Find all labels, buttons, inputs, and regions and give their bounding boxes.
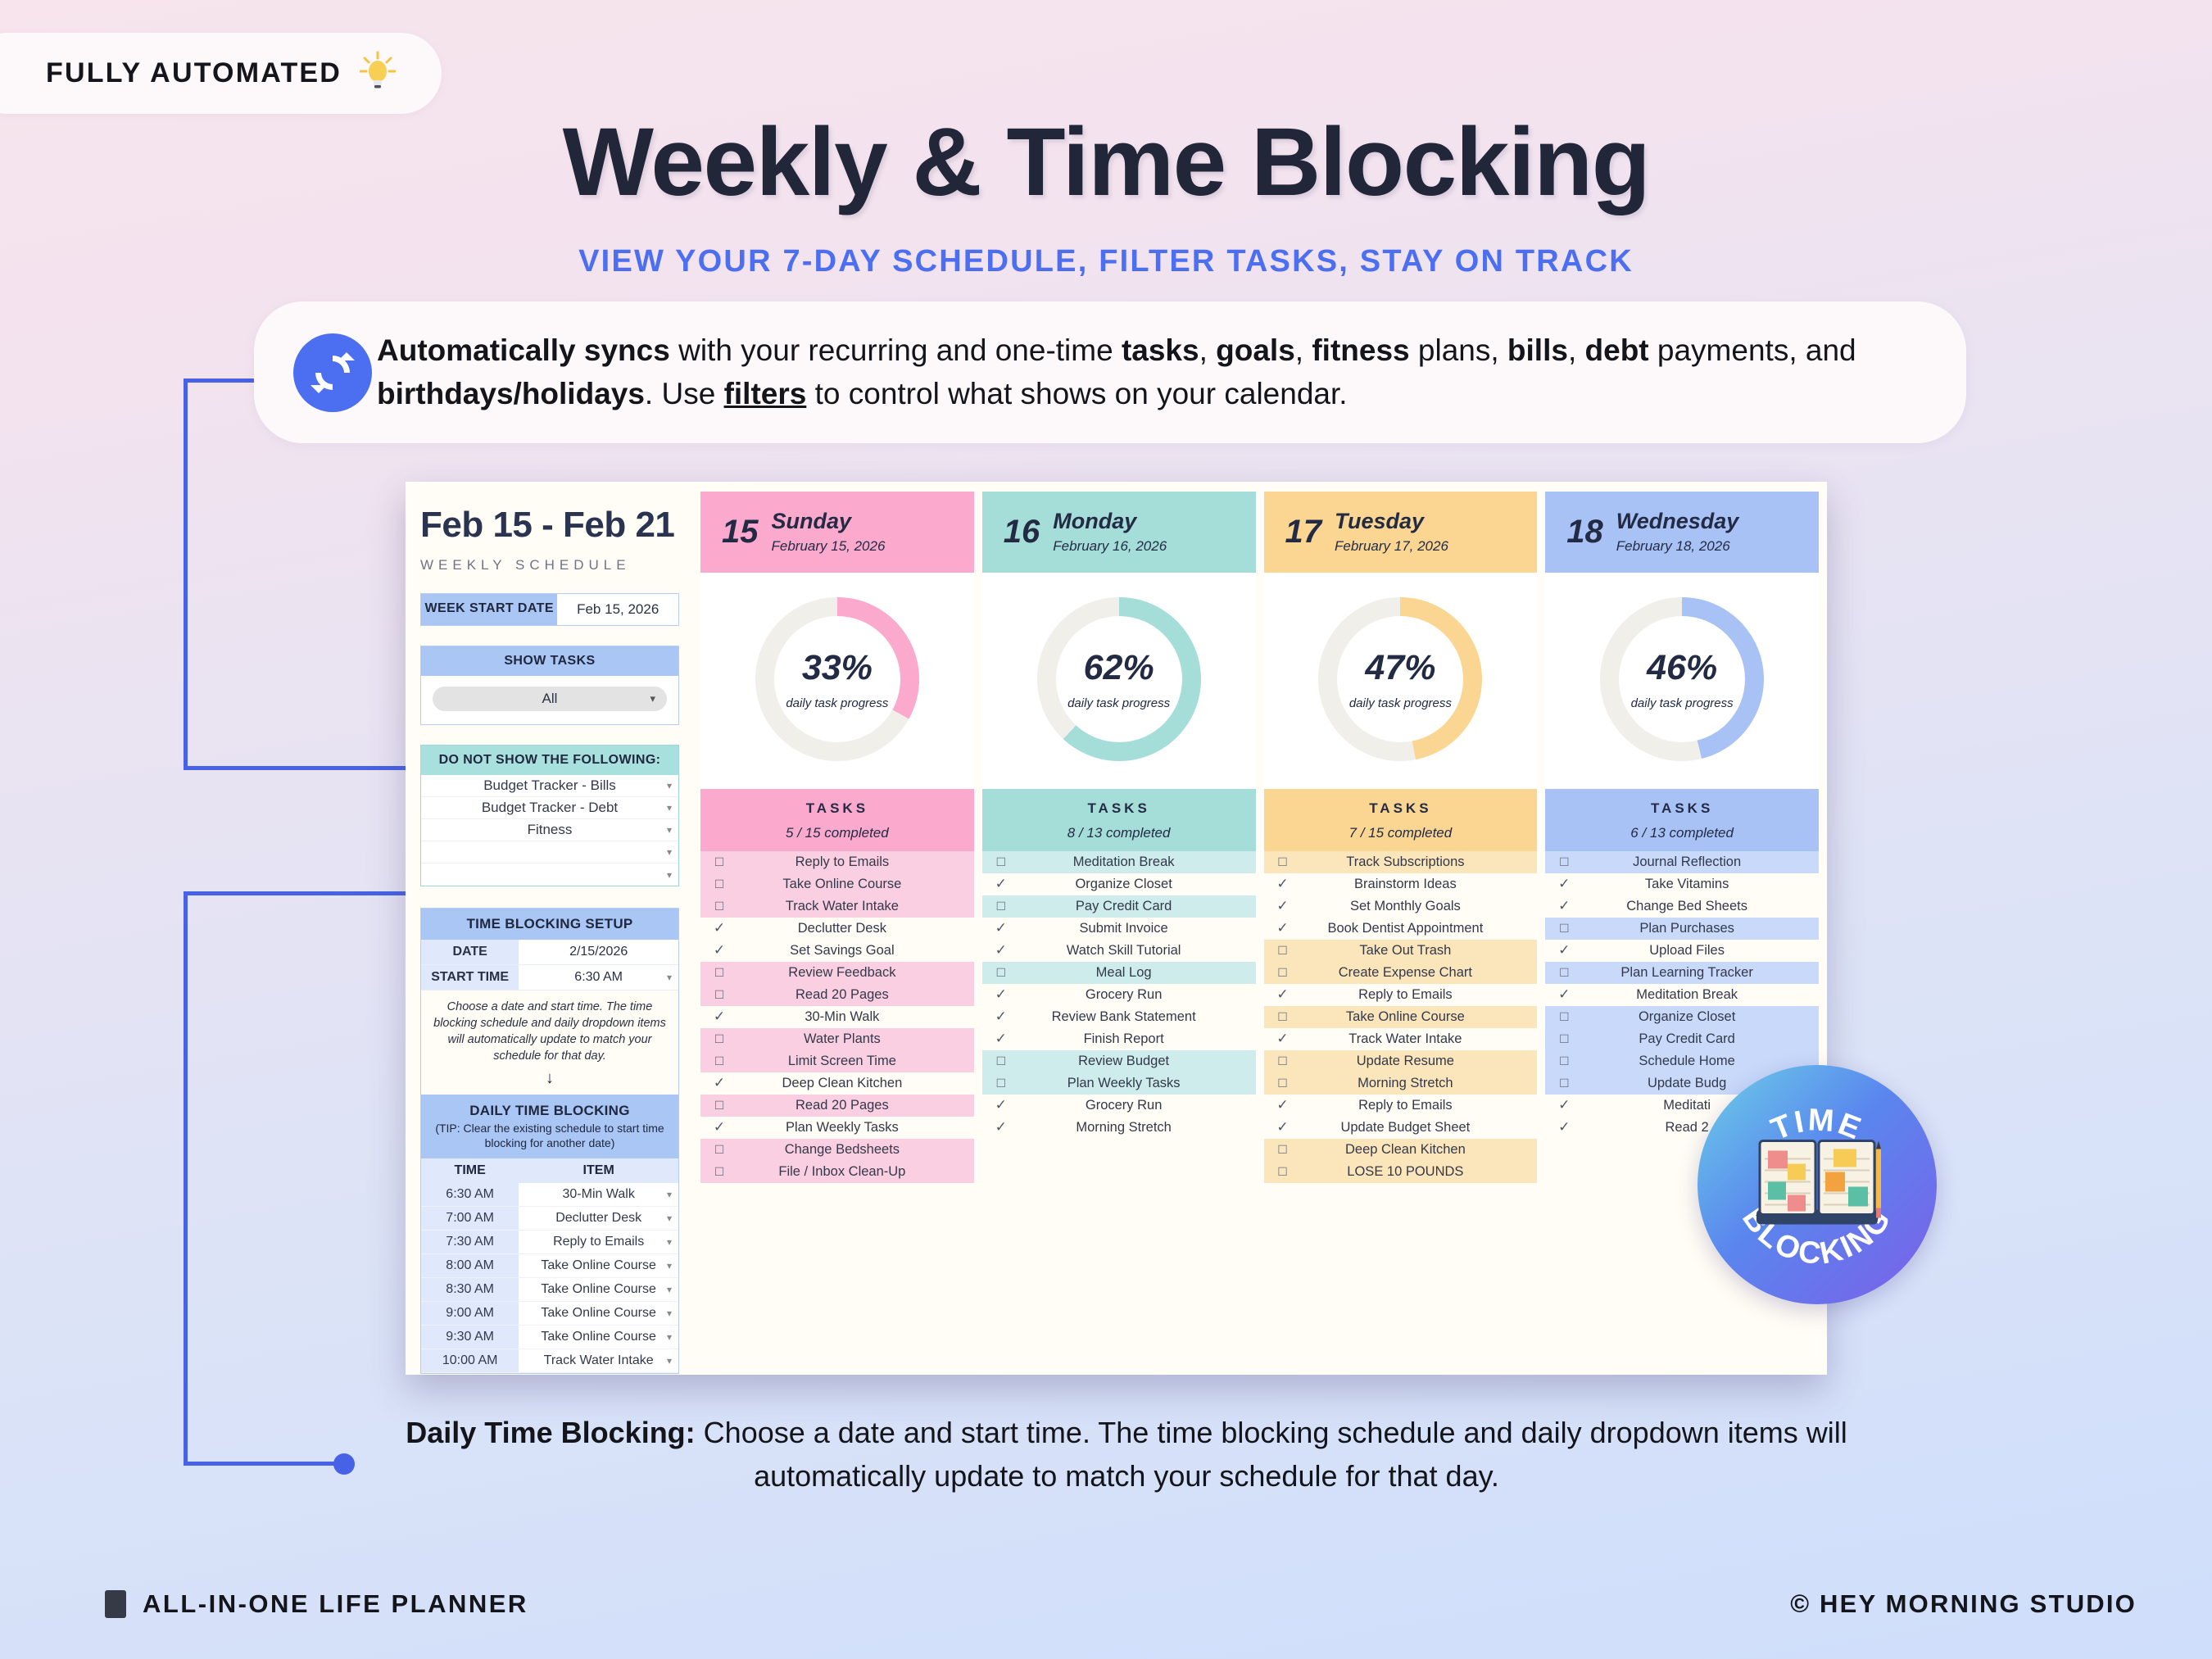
tasks-label: TASKS bbox=[982, 800, 1256, 817]
do-not-show-row[interactable]: Budget Tracker - Debt▾ bbox=[421, 797, 678, 819]
sync-icon bbox=[293, 333, 372, 412]
task-row[interactable]: ✓Update Budget Sheet bbox=[1264, 1117, 1538, 1139]
check-icon[interactable]: ✓ bbox=[1545, 1097, 1583, 1113]
task-row[interactable]: ✓Reply to Emails bbox=[1264, 984, 1538, 1006]
checkbox-icon[interactable]: ☐ bbox=[1264, 855, 1302, 869]
tb-start-time-text: 6:30 AM bbox=[574, 970, 623, 984]
tasks-header: TASKS6 / 13 completed bbox=[1545, 789, 1819, 851]
tb-setup-note: Choose a date and start time. The time b… bbox=[421, 990, 678, 1069]
checkbox-icon[interactable]: ☐ bbox=[1264, 944, 1302, 958]
task-name: Organize Closet bbox=[1020, 877, 1256, 892]
task-row[interactable]: ✓Deep Clean Kitchen bbox=[700, 1072, 974, 1095]
day-date: February 18, 2026 bbox=[1616, 538, 1739, 555]
day-number: 18 bbox=[1566, 514, 1603, 551]
task-name: Watch Skill Tutorial bbox=[1020, 943, 1256, 959]
checkbox-icon[interactable]: ☐ bbox=[1545, 1032, 1583, 1046]
check-icon[interactable]: ✓ bbox=[1545, 986, 1583, 1003]
check-icon[interactable]: ✓ bbox=[1264, 1097, 1302, 1113]
check-icon[interactable]: ✓ bbox=[1264, 1119, 1302, 1135]
checkbox-icon[interactable]: ☐ bbox=[982, 1077, 1020, 1090]
task-row[interactable]: ✓Change Bed Sheets bbox=[1545, 895, 1819, 918]
week-start-date-value[interactable]: Feb 15, 2026 bbox=[557, 594, 678, 625]
day-name: Tuesday bbox=[1335, 509, 1424, 533]
progress-ring: 47%daily task progress bbox=[1318, 597, 1482, 761]
day-date: February 15, 2026 bbox=[772, 538, 886, 555]
checkbox-icon[interactable]: ☐ bbox=[1545, 855, 1583, 869]
check-icon[interactable]: ✓ bbox=[700, 1119, 738, 1135]
progress-caption: daily task progress bbox=[786, 696, 888, 710]
progress-ring: 46%daily task progress bbox=[1600, 597, 1764, 761]
task-row[interactable]: ☐Limit Screen Time bbox=[700, 1050, 974, 1072]
task-name: LOSE 10 POUNDS bbox=[1302, 1164, 1538, 1180]
time-blocking-time: 8:00 AM bbox=[421, 1254, 519, 1278]
task-name: Reply to Emails bbox=[738, 854, 974, 870]
task-name: Take Online Course bbox=[738, 877, 974, 892]
day-date: February 17, 2026 bbox=[1335, 538, 1448, 555]
sidebar-panel: Feb 15 - Feb 21 WEEKLY SCHEDULE WEEK STA… bbox=[406, 482, 694, 1375]
progress-ring-wrap: 62%daily task progress bbox=[982, 573, 1256, 789]
task-name: Update Budget Sheet bbox=[1302, 1120, 1538, 1135]
time-blocking-item-text: Take Online Course bbox=[541, 1258, 656, 1272]
check-icon[interactable]: ✓ bbox=[982, 1119, 1020, 1135]
task-name: Track Subscriptions bbox=[1302, 854, 1538, 870]
time-blocking-row: 8:00 AMTake Online Course▾ bbox=[421, 1254, 678, 1278]
task-list: ☐Meditation Break✓Organize Closet☐Pay Cr… bbox=[982, 851, 1256, 1375]
checkbox-icon[interactable]: ☐ bbox=[700, 1165, 738, 1179]
chevron-down-icon: ▾ bbox=[650, 692, 655, 705]
progress-ring: 33%daily task progress bbox=[755, 597, 919, 761]
tasks-completed-count: 5 / 15 completed bbox=[700, 825, 974, 841]
check-icon[interactable]: ✓ bbox=[1264, 920, 1302, 936]
check-icon[interactable]: ✓ bbox=[1264, 1031, 1302, 1047]
time-blocking-time: 7:00 AM bbox=[421, 1207, 519, 1231]
task-name: Plan Weekly Tasks bbox=[1020, 1076, 1256, 1091]
tasks-completed-count: 6 / 13 completed bbox=[1545, 825, 1819, 841]
checkbox-icon[interactable]: ☐ bbox=[1264, 1165, 1302, 1179]
show-tasks-header: SHOW TASKS bbox=[421, 646, 678, 676]
week-start-date-row: WEEK START DATE Feb 15, 2026 bbox=[420, 593, 679, 626]
task-row[interactable]: ☐Reply to Emails bbox=[700, 851, 974, 873]
checkbox-icon[interactable]: ☐ bbox=[1264, 1077, 1302, 1090]
callout-bold-7: birthdays/holidays bbox=[377, 377, 645, 410]
task-row[interactable]: ☐Track Subscriptions bbox=[1264, 851, 1538, 873]
task-row[interactable]: ✓Book Dentist Appointment bbox=[1264, 918, 1538, 940]
task-name: Book Dentist Appointment bbox=[1302, 921, 1538, 936]
check-icon[interactable]: ✓ bbox=[1545, 876, 1583, 892]
task-row[interactable]: ☐Take Online Course bbox=[700, 873, 974, 895]
task-name: Track Water Intake bbox=[1302, 1031, 1538, 1047]
checkbox-icon[interactable]: ☐ bbox=[982, 966, 1020, 980]
checkbox-icon[interactable]: ☐ bbox=[700, 855, 738, 869]
check-icon[interactable]: ✓ bbox=[982, 1097, 1020, 1113]
check-icon[interactable]: ✓ bbox=[1545, 942, 1583, 959]
task-row[interactable]: ✓Declutter Desk bbox=[700, 918, 974, 940]
check-icon[interactable]: ✓ bbox=[982, 876, 1020, 892]
chevron-down-icon: ▾ bbox=[667, 1189, 672, 1200]
callout-text-6: payments, and bbox=[1649, 333, 1856, 367]
task-row[interactable]: ✓Grocery Run bbox=[982, 1095, 1256, 1117]
progress-ring: 62%daily task progress bbox=[1037, 597, 1201, 761]
task-row[interactable]: ✓Meditation Break bbox=[1545, 984, 1819, 1006]
do-not-show-header: DO NOT SHOW THE FOLLOWING: bbox=[421, 746, 678, 775]
task-name: Deep Clean Kitchen bbox=[1302, 1142, 1538, 1158]
task-name: Deep Clean Kitchen bbox=[738, 1076, 974, 1091]
week-start-date-label: WEEK START DATE bbox=[421, 594, 557, 625]
progress-ring-wrap: 46%daily task progress bbox=[1545, 573, 1819, 789]
time-blocking-time: 8:30 AM bbox=[421, 1278, 519, 1302]
tb-date-row: DATE 2/15/2026 bbox=[421, 940, 678, 965]
task-name: Change Bedsheets bbox=[738, 1142, 974, 1158]
do-not-show-value: Fitness bbox=[528, 822, 573, 838]
progress-percent: 47% bbox=[1365, 648, 1435, 688]
checkbox-icon[interactable]: ☐ bbox=[700, 877, 738, 891]
callout-bold-1: Automatically syncs bbox=[377, 333, 670, 367]
time-blocking-item[interactable]: Track Water Intake▾ bbox=[519, 1349, 678, 1373]
task-row[interactable]: ☐Change Bedsheets bbox=[700, 1139, 974, 1161]
task-name: Change Bed Sheets bbox=[1583, 899, 1819, 914]
task-name: Plan Purchases bbox=[1583, 921, 1819, 936]
task-row[interactable]: ✓Watch Skill Tutorial bbox=[982, 940, 1256, 962]
task-list: ☐Track Subscriptions✓Brainstorm Ideas✓Se… bbox=[1264, 851, 1538, 1375]
page-subtitle: VIEW YOUR 7-DAY SCHEDULE, FILTER TASKS, … bbox=[0, 244, 2212, 279]
time-blocking-item-text: 30-Min Walk bbox=[563, 1187, 635, 1201]
time-blocking-row: 10:00 AMTrack Water Intake▾ bbox=[421, 1349, 678, 1373]
task-list: ☐Reply to Emails☐Take Online Course☐Trac… bbox=[700, 851, 974, 1375]
task-name: Meditation Break bbox=[1583, 987, 1819, 1003]
do-not-show-block: DO NOT SHOW THE FOLLOWING: Budget Tracke… bbox=[420, 745, 679, 886]
task-name: Pay Credit Card bbox=[1020, 899, 1256, 914]
task-row[interactable]: ✓30-Min Walk bbox=[700, 1006, 974, 1028]
checkbox-icon[interactable]: ☐ bbox=[700, 900, 738, 913]
caption-bold: Daily Time Blocking: bbox=[406, 1416, 695, 1449]
callout-text-7: . Use bbox=[645, 377, 724, 410]
task-name: Set Savings Goal bbox=[738, 943, 974, 959]
task-name: Meal Log bbox=[1020, 965, 1256, 981]
progress-caption: daily task progress bbox=[1349, 696, 1452, 710]
checkbox-icon[interactable]: ☐ bbox=[700, 966, 738, 980]
chevron-down-icon: ▾ bbox=[667, 802, 672, 814]
task-row[interactable]: ☐Read 20 Pages bbox=[700, 984, 974, 1006]
task-row[interactable]: ✓Set Savings Goal bbox=[700, 940, 974, 962]
task-row[interactable]: ✓Submit Invoice bbox=[982, 918, 1256, 940]
task-row[interactable]: ✓Finish Report bbox=[982, 1028, 1256, 1050]
time-blocking-item[interactable]: Take Online Course▾ bbox=[519, 1278, 678, 1302]
check-icon[interactable]: ✓ bbox=[700, 942, 738, 959]
task-row[interactable]: ☐Organize Closet bbox=[1545, 1006, 1819, 1028]
time-blocking-item[interactable]: Declutter Desk▾ bbox=[519, 1207, 678, 1231]
do-not-show-row[interactable]: Budget Tracker - Bills▾ bbox=[421, 775, 678, 797]
task-name: Review Feedback bbox=[738, 965, 974, 981]
time-blocking-setup-block: TIME BLOCKING SETUP DATE 2/15/2026 START… bbox=[420, 908, 679, 1374]
check-icon[interactable]: ✓ bbox=[700, 1075, 738, 1091]
checkbox-icon[interactable]: ☐ bbox=[1264, 1143, 1302, 1157]
task-name: Organize Closet bbox=[1583, 1009, 1819, 1025]
callout-filters-link[interactable]: filters bbox=[724, 377, 807, 410]
time-blocking-item[interactable]: Reply to Emails▾ bbox=[519, 1231, 678, 1254]
callout-bold-6: debt bbox=[1585, 333, 1649, 367]
checkbox-icon[interactable]: ☐ bbox=[1264, 1054, 1302, 1068]
task-row[interactable]: ☐Track Water Intake bbox=[700, 895, 974, 918]
task-name: Reply to Emails bbox=[1302, 1098, 1538, 1113]
day-header: 15SundayFebruary 15, 2026 bbox=[700, 492, 974, 573]
time-blocking-item-text: Declutter Desk bbox=[555, 1211, 641, 1225]
task-name: Grocery Run bbox=[1020, 987, 1256, 1003]
time-blocking-item[interactable]: Take Online Course▾ bbox=[519, 1254, 678, 1278]
tb-date-value[interactable]: 2/15/2026 bbox=[519, 940, 678, 964]
task-name: Plan Weekly Tasks bbox=[738, 1120, 974, 1135]
task-row[interactable]: ✓Review Bank Statement bbox=[982, 1006, 1256, 1028]
task-name: Journal Reflection bbox=[1583, 854, 1819, 870]
task-row[interactable]: ☐LOSE 10 POUNDS bbox=[1264, 1161, 1538, 1183]
day-name: Monday bbox=[1053, 509, 1136, 533]
day-name: Wednesday bbox=[1616, 509, 1739, 533]
time-blocking-badge: TIME BLOCKING bbox=[1698, 1065, 1937, 1304]
caption-rest: Choose a date and start time. The time b… bbox=[696, 1416, 1847, 1493]
day-column-monday: 16MondayFebruary 16, 202662%daily task p… bbox=[982, 492, 1256, 1375]
day-number: 17 bbox=[1285, 514, 1322, 551]
callout-text-1: with your recurring and one-time bbox=[670, 333, 1122, 367]
task-name: Track Water Intake bbox=[738, 899, 974, 914]
time-column-header: TIME bbox=[421, 1158, 519, 1183]
progress-caption: daily task progress bbox=[1067, 696, 1170, 710]
check-icon[interactable]: ✓ bbox=[700, 1009, 738, 1025]
task-row[interactable]: ✓Plan Weekly Tasks bbox=[700, 1117, 974, 1139]
time-blocking-item[interactable]: Take Online Course▾ bbox=[519, 1326, 678, 1349]
time-blocking-row: 8:30 AMTake Online Course▾ bbox=[421, 1278, 678, 1302]
time-blocking-row: 9:00 AMTake Online Course▾ bbox=[421, 1302, 678, 1326]
task-row[interactable]: ☐Take Out Trash bbox=[1264, 940, 1538, 962]
show-tasks-dropdown[interactable]: All ▾ bbox=[433, 687, 667, 711]
fully-automated-label: FULLY AUTOMATED bbox=[46, 57, 342, 89]
callout-text-3: , bbox=[1295, 333, 1312, 367]
spreadsheet-screenshot: Feb 15 - Feb 21 WEEKLY SCHEDULE WEEK STA… bbox=[406, 482, 1827, 1375]
time-blocking-time: 9:30 AM bbox=[421, 1326, 519, 1349]
task-row[interactable]: ☐Journal Reflection bbox=[1545, 851, 1819, 873]
task-name: Morning Stretch bbox=[1302, 1076, 1538, 1091]
task-row[interactable]: ☐Plan Purchases bbox=[1545, 918, 1819, 940]
callout-text-5: , bbox=[1568, 333, 1585, 367]
open-book-icon bbox=[1752, 1135, 1883, 1235]
task-row[interactable]: ✓Brainstorm Ideas bbox=[1264, 873, 1538, 895]
task-row[interactable]: ☐Review Budget bbox=[982, 1050, 1256, 1072]
task-row[interactable]: ☐Meal Log bbox=[982, 962, 1256, 984]
task-name: Morning Stretch bbox=[1020, 1120, 1256, 1135]
task-name: Plan Learning Tracker bbox=[1583, 965, 1819, 981]
callout-bold-5: bills bbox=[1507, 333, 1568, 367]
time-blocking-item[interactable]: Take Online Course▾ bbox=[519, 1302, 678, 1326]
chevron-down-icon: ▾ bbox=[667, 972, 672, 983]
time-blocking-time: 6:30 AM bbox=[421, 1183, 519, 1207]
task-row[interactable]: ☐Create Expense Chart bbox=[1264, 962, 1538, 984]
footer-right: © HEY MORNING STUDIO bbox=[1790, 1589, 2137, 1619]
chevron-down-icon: ▾ bbox=[667, 869, 672, 881]
task-row[interactable]: ☐File / Inbox Clean-Up bbox=[700, 1161, 974, 1183]
time-blocking-setup-header: TIME BLOCKING SETUP bbox=[421, 909, 678, 940]
daily-time-blocking-tip: (TIP: Clear the existing schedule to sta… bbox=[428, 1121, 672, 1150]
chevron-down-icon: ▾ bbox=[667, 780, 672, 791]
task-name: Submit Invoice bbox=[1020, 921, 1256, 936]
task-name: Set Monthly Goals bbox=[1302, 899, 1538, 914]
check-icon[interactable]: ✓ bbox=[1264, 876, 1302, 892]
task-row[interactable]: ☐Water Plants bbox=[700, 1028, 974, 1050]
tasks-label: TASKS bbox=[700, 800, 974, 817]
connector-dot-caption bbox=[333, 1453, 355, 1475]
check-icon[interactable]: ✓ bbox=[1264, 898, 1302, 914]
task-row[interactable]: ☐Plan Learning Tracker bbox=[1545, 962, 1819, 984]
time-blocking-row: 7:00 AMDeclutter Desk▾ bbox=[421, 1207, 678, 1231]
tb-start-time-value[interactable]: 6:30 AM ▾ bbox=[519, 965, 678, 990]
callout-bold-2: tasks bbox=[1122, 333, 1199, 367]
task-row[interactable]: ✓Morning Stretch bbox=[982, 1117, 1256, 1139]
day-number: 15 bbox=[722, 514, 759, 551]
time-blocking-item-text: Reply to Emails bbox=[553, 1235, 644, 1249]
day-header: 17TuesdayFebruary 17, 2026 bbox=[1264, 492, 1538, 573]
progress-ring-wrap: 33%daily task progress bbox=[700, 573, 974, 789]
time-blocking-item-text: Take Online Course bbox=[541, 1282, 656, 1296]
task-row[interactable]: ✓Take Vitamins bbox=[1545, 873, 1819, 895]
checkbox-icon[interactable]: ☐ bbox=[700, 1032, 738, 1046]
checkbox-icon[interactable]: ☐ bbox=[700, 1054, 738, 1068]
task-row[interactable]: ✓Set Monthly Goals bbox=[1264, 895, 1538, 918]
checkbox-icon[interactable]: ☐ bbox=[1545, 922, 1583, 936]
tasks-header: TASKS8 / 13 completed bbox=[982, 789, 1256, 851]
day-column-tuesday: 17TuesdayFebruary 17, 202647%daily task … bbox=[1264, 492, 1538, 1375]
checkbox-icon[interactable]: ☐ bbox=[700, 1099, 738, 1113]
task-row[interactable]: ☐Update Resume bbox=[1264, 1050, 1538, 1072]
time-blocking-table: TIME ITEM 6:30 AM30-Min Walk▾7:00 AMDecl… bbox=[421, 1158, 678, 1373]
tb-date-label: DATE bbox=[421, 940, 519, 964]
tb-start-time-row: START TIME 6:30 AM ▾ bbox=[421, 965, 678, 990]
chevron-down-icon: ▾ bbox=[667, 1213, 672, 1224]
checkbox-icon[interactable]: ☐ bbox=[982, 900, 1020, 913]
check-icon[interactable]: ✓ bbox=[982, 986, 1020, 1003]
task-name: Review Budget bbox=[1020, 1054, 1256, 1069]
task-row[interactable]: ✓Upload Files bbox=[1545, 940, 1819, 962]
checkbox-icon[interactable]: ☐ bbox=[1264, 1010, 1302, 1024]
task-name: Finish Report bbox=[1020, 1031, 1256, 1047]
chevron-down-icon: ▾ bbox=[667, 846, 672, 858]
task-name: Review Bank Statement bbox=[1020, 1009, 1256, 1025]
chevron-down-icon: ▾ bbox=[667, 1308, 672, 1319]
checkbox-icon[interactable]: ☐ bbox=[1545, 1010, 1583, 1024]
callout-text-2: , bbox=[1199, 333, 1217, 367]
task-name: Read 20 Pages bbox=[738, 1098, 974, 1113]
check-icon[interactable]: ✓ bbox=[982, 920, 1020, 936]
task-row[interactable]: ☐Pay Credit Card bbox=[982, 895, 1256, 918]
lightbulb-icon bbox=[360, 51, 396, 96]
day-header: 18WednesdayFebruary 18, 2026 bbox=[1545, 492, 1819, 573]
task-row[interactable]: ☐Review Feedback bbox=[700, 962, 974, 984]
task-name: Read 20 Pages bbox=[738, 987, 974, 1003]
task-row[interactable]: ✓Grocery Run bbox=[982, 984, 1256, 1006]
page-title: Weekly & Time Blocking bbox=[0, 107, 2212, 218]
check-icon[interactable]: ✓ bbox=[982, 1031, 1020, 1047]
do-not-show-row[interactable]: Fitness▾ bbox=[421, 819, 678, 841]
time-blocking-row: 7:30 AMReply to Emails▾ bbox=[421, 1231, 678, 1254]
do-not-show-value: Budget Tracker - Bills bbox=[483, 777, 616, 794]
checkbox-icon[interactable]: ☐ bbox=[700, 1143, 738, 1157]
task-row[interactable]: ☐Deep Clean Kitchen bbox=[1264, 1139, 1538, 1161]
checkbox-icon[interactable]: ☐ bbox=[1545, 966, 1583, 980]
task-name: Limit Screen Time bbox=[738, 1054, 974, 1069]
task-name: Grocery Run bbox=[1020, 1098, 1256, 1113]
show-tasks-block: SHOW TASKS All ▾ bbox=[420, 646, 679, 725]
checkbox-icon[interactable]: ☐ bbox=[982, 1054, 1020, 1068]
check-icon[interactable]: ✓ bbox=[700, 920, 738, 936]
task-name: Take Out Trash bbox=[1302, 943, 1538, 959]
task-row[interactable]: ✓Reply to Emails bbox=[1264, 1095, 1538, 1117]
progress-percent: 33% bbox=[802, 648, 873, 688]
check-icon[interactable]: ✓ bbox=[1545, 898, 1583, 914]
progress-percent: 62% bbox=[1084, 648, 1154, 688]
time-blocking-time: 7:30 AM bbox=[421, 1231, 519, 1254]
time-blocking-time: 10:00 AM bbox=[421, 1349, 519, 1373]
chevron-down-icon: ▾ bbox=[667, 824, 672, 836]
task-name: Upload Files bbox=[1583, 943, 1819, 959]
checkbox-icon[interactable]: ☐ bbox=[1264, 966, 1302, 980]
do-not-show-value: Budget Tracker - Debt bbox=[482, 800, 618, 816]
check-icon[interactable]: ✓ bbox=[982, 942, 1020, 959]
task-row[interactable]: ✓Track Water Intake bbox=[1264, 1028, 1538, 1050]
tasks-completed-count: 7 / 15 completed bbox=[1264, 825, 1538, 841]
task-row[interactable]: ✓Organize Closet bbox=[982, 873, 1256, 895]
connector-line-top-vertical bbox=[184, 378, 188, 770]
time-blocking-time: 9:00 AM bbox=[421, 1302, 519, 1326]
footer-left: ALL-IN-ONE LIFE PLANNER bbox=[105, 1589, 528, 1619]
chevron-down-icon: ▾ bbox=[667, 1331, 672, 1343]
chevron-down-icon: ▾ bbox=[667, 1284, 672, 1295]
task-name: Create Expense Chart bbox=[1302, 965, 1538, 981]
progress-ring-wrap: 47%daily task progress bbox=[1264, 573, 1538, 789]
task-row[interactable]: ☐Meditation Break bbox=[982, 851, 1256, 873]
task-row[interactable]: ☐Take Online Course bbox=[1264, 1006, 1538, 1028]
checkbox-icon[interactable]: ☐ bbox=[1545, 1077, 1583, 1090]
tasks-header: TASKS5 / 15 completed bbox=[700, 789, 974, 851]
daily-time-blocking-header: DAILY TIME BLOCKING (TIP: Clear the exis… bbox=[421, 1095, 678, 1158]
task-row[interactable]: ☐Pay Credit Card bbox=[1545, 1028, 1819, 1050]
task-name: Brainstorm Ideas bbox=[1302, 877, 1538, 892]
task-name: Pay Credit Card bbox=[1583, 1031, 1819, 1047]
callout-bold-4: fitness bbox=[1312, 333, 1409, 367]
checkbox-icon[interactable]: ☐ bbox=[700, 988, 738, 1002]
day-header: 16MondayFebruary 16, 2026 bbox=[982, 492, 1256, 573]
check-icon[interactable]: ✓ bbox=[1264, 986, 1302, 1003]
check-icon[interactable]: ✓ bbox=[1545, 1119, 1583, 1135]
checkbox-icon[interactable]: ☐ bbox=[1545, 1054, 1583, 1068]
tasks-label: TASKS bbox=[1545, 800, 1819, 817]
day-number: 16 bbox=[1004, 514, 1040, 551]
checkbox-icon[interactable]: ☐ bbox=[982, 855, 1020, 869]
task-row[interactable]: ☐Plan Weekly Tasks bbox=[982, 1072, 1256, 1095]
do-not-show-row[interactable]: ▾ bbox=[421, 841, 678, 863]
tasks-completed-count: 8 / 13 completed bbox=[982, 825, 1256, 841]
callout-bold-3: goals bbox=[1216, 333, 1295, 367]
task-name: Water Plants bbox=[738, 1031, 974, 1047]
down-arrow-icon: ↓ bbox=[421, 1069, 678, 1095]
chevron-down-icon: ▾ bbox=[667, 1355, 672, 1367]
do-not-show-row[interactable]: ▾ bbox=[421, 863, 678, 886]
time-blocking-item[interactable]: 30-Min Walk▾ bbox=[519, 1183, 678, 1207]
callout-text-8: to control what shows on your calendar. bbox=[806, 377, 1347, 410]
task-name: Reply to Emails bbox=[1302, 987, 1538, 1003]
daily-time-blocking-title: DAILY TIME BLOCKING bbox=[428, 1103, 672, 1119]
callout-text-4: plans, bbox=[1410, 333, 1507, 367]
task-row[interactable]: ☐Morning Stretch bbox=[1264, 1072, 1538, 1095]
tb-start-time-label: START TIME bbox=[421, 965, 519, 990]
check-icon[interactable]: ✓ bbox=[982, 1009, 1020, 1025]
task-row[interactable]: ☐Read 20 Pages bbox=[700, 1095, 974, 1117]
fully-automated-badge: FULLY AUTOMATED bbox=[0, 33, 442, 114]
